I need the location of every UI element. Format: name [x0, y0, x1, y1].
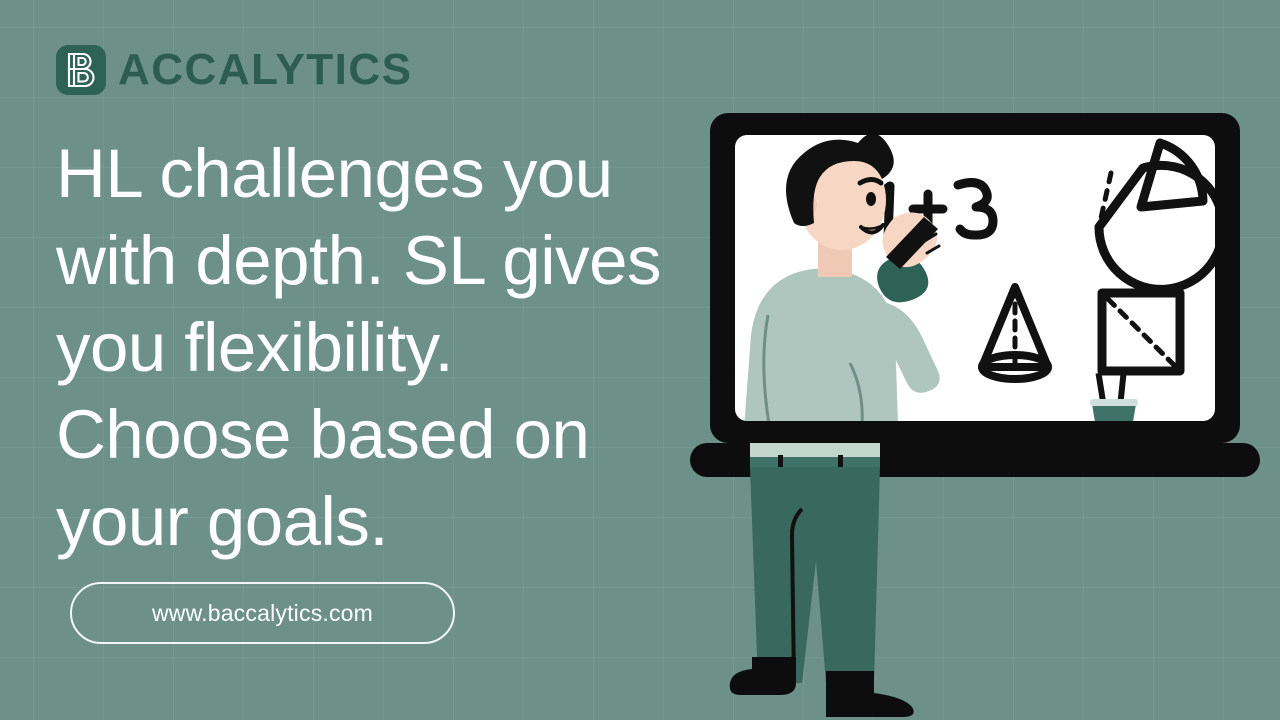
website-url-button[interactable]: www.baccalytics.com — [70, 582, 455, 644]
website-url-label: www.baccalytics.com — [152, 600, 373, 627]
poster-canvas: ACCALYTICS HL challenges you with depth.… — [0, 0, 1280, 720]
brand-logo[interactable]: ACCALYTICS — [56, 45, 413, 95]
person-lower-body — [730, 443, 914, 717]
brand-name-text: ACCALYTICS — [118, 48, 413, 92]
brand-mark-icon — [56, 45, 106, 95]
hero-illustration — [690, 105, 1270, 720]
page-title: HL challenges you with depth. SL gives y… — [56, 130, 696, 565]
